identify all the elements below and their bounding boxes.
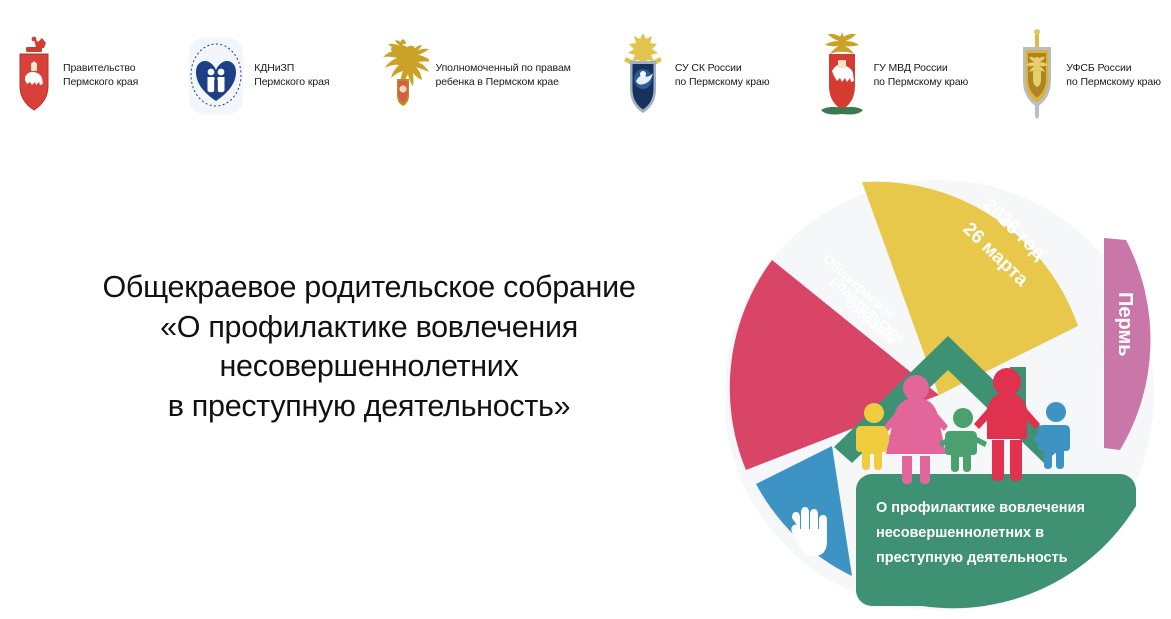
logo-su-sk-russia: СУ СК России по Пермскому краю — [618, 31, 770, 121]
russian-double-headed-eagle-icon — [377, 35, 429, 117]
logo-gu-mvd-russia: ГУ МВД России по Пермскому краю — [817, 30, 969, 122]
logo-government-perm-krai: Правительство Пермского края — [12, 35, 138, 117]
title-line-1: Общекраевое родительское собрание — [6, 268, 732, 308]
logo-kdnizp: КДНиЗП Пермского края — [185, 35, 329, 117]
event-topic-segment: О профилактике вовлечения несовершенноле… — [856, 474, 1136, 608]
investigative-committee-shield-icon — [618, 31, 668, 121]
logo-label: СУ СК России по Пермскому краю — [675, 62, 770, 90]
perm-krai-coat-of-arms-shield-icon — [12, 35, 56, 117]
page-title: Общекраевое родительское собрание «О про… — [6, 268, 732, 427]
logo-label: Уполномоченный по правам ребенка в Пермс… — [436, 62, 571, 90]
logo-childrens-rights-commissioner: Уполномоченный по правам ребенка в Пермс… — [377, 35, 571, 117]
event-topic-line-2: несовершеннолетних в — [876, 525, 1044, 541]
logo-label: КДНиЗП Пермского края — [254, 62, 329, 90]
event-city-label: Пермь — [1114, 292, 1136, 357]
partner-logo-strip: Правительство Пермского края КДНиЗП Перм… — [0, 0, 1171, 152]
logo-label: Правительство Пермского края — [63, 62, 138, 90]
mvd-perm-bear-shield-icon — [817, 30, 867, 122]
fsb-shield-emblem-icon — [1015, 29, 1059, 123]
event-infographic: Общекраевое родительское собрание 2026 г… — [726, 160, 1171, 619]
title-line-3: несовершеннолетних — [6, 347, 732, 387]
title-line-2: «О профилактике вовлечения — [6, 308, 732, 348]
title-line-4: в преступную деятельность» — [6, 387, 732, 427]
event-topic-line-3: преступную деятельность — [876, 550, 1068, 566]
kdnizp-heart-emblem-icon — [185, 35, 247, 117]
logo-ufsb-russia: УФСБ России по Пермскому краю — [1015, 29, 1161, 123]
infographic-svg: Общекраевое родительское собрание 2026 г… — [726, 160, 1171, 619]
logo-label: ГУ МВД России по Пермскому краю — [874, 62, 969, 90]
logo-label: УФСБ России по Пермскому краю — [1066, 62, 1161, 90]
event-topic-line-1: О профилактике вовлечения — [876, 500, 1085, 516]
